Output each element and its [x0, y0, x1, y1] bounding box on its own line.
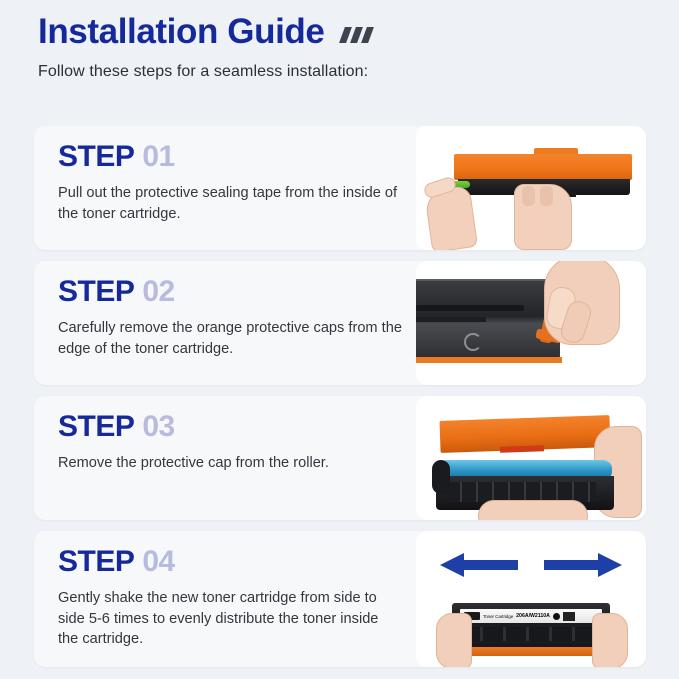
step-word: STEP — [58, 275, 134, 308]
shake-cartridge-side-to-side-illustration: Toner Cartridge 206A/W2110A — [416, 531, 646, 667]
step-number: 03 — [142, 410, 174, 443]
step-number: 04 — [142, 545, 174, 578]
cartridge-label: Toner Cartridge 206A/W2110A — [460, 609, 602, 623]
arrow-right-icon — [542, 551, 624, 579]
right-hand — [592, 613, 628, 667]
step-description: Remove the protective cap from the rolle… — [58, 453, 402, 474]
right-hand-finger-2 — [540, 186, 553, 206]
step-figure — [416, 396, 646, 520]
step-description: Carefully remove the orange protective c… — [58, 318, 402, 359]
right-hand-finger-1 — [522, 186, 535, 206]
cartridge-ribs — [460, 627, 602, 641]
steps-list: STEP01 Pull out the protective sealing t… — [34, 126, 646, 678]
hand-removing-orange-protective-cap-illustration — [416, 261, 646, 385]
step-number: 02 — [142, 275, 174, 308]
title-row: Installation Guide — [38, 14, 659, 51]
cartridge-label-dot — [553, 613, 560, 620]
step-description: Pull out the protective sealing tape fro… — [58, 183, 402, 224]
cartridge-end-cap — [432, 460, 450, 494]
triple-slash-icon — [342, 27, 371, 43]
left-hand — [436, 613, 472, 667]
step-word: STEP — [58, 545, 134, 578]
step-card: STEP01 Pull out the protective sealing t… — [34, 126, 646, 250]
cartridge-orange-base-strip — [416, 357, 562, 363]
cartridge-logo-mark — [464, 333, 482, 351]
step-text-block: STEP02 Carefully remove the orange prote… — [34, 261, 416, 385]
step-text-block: STEP03 Remove the protective cap from th… — [34, 396, 416, 520]
step-figure — [416, 261, 646, 385]
cartridge-ribs — [446, 482, 596, 502]
step-card: STEP03 Remove the protective cap from th… — [34, 396, 646, 520]
step-number: 01 — [142, 140, 174, 173]
orange-cover-notch — [500, 445, 544, 453]
step-figure: Toner Cartridge 206A/W2110A — [416, 531, 646, 667]
step-heading: STEP01 — [58, 142, 402, 172]
orange-toner-cartridge-with-green-sealing-tape-illustration — [416, 126, 646, 250]
step-card: STEP02 Carefully remove the orange prote… — [34, 261, 646, 385]
step-heading: STEP04 — [58, 547, 402, 577]
cartridge-groove-upper — [416, 305, 524, 311]
orange-cover-lifted-revealing-cyan-roller-illustration — [416, 396, 646, 520]
step-word: STEP — [58, 140, 134, 173]
cartridge-label-text: Toner Cartridge — [483, 614, 513, 619]
slash-bar-3 — [362, 27, 375, 43]
cartridge-orange-base-strip — [450, 647, 612, 656]
step-card: STEP04 Gently shake the new toner cartri… — [34, 531, 646, 667]
step-figure — [416, 126, 646, 250]
cartridge-groove-lower — [416, 317, 486, 322]
supporting-hand — [478, 500, 588, 520]
page-subtitle: Follow these steps for a seamless instal… — [38, 63, 659, 81]
step-text-block: STEP04 Gently shake the new toner cartri… — [34, 531, 416, 667]
cartridge-label-code: 206A/W2110A — [516, 613, 550, 619]
page-title: Installation Guide — [38, 14, 324, 51]
step-word: STEP — [58, 410, 134, 443]
installation-guide-page: Installation Guide Follow these steps fo… — [0, 0, 679, 679]
cartridge-label-box — [563, 612, 575, 621]
step-description: Gently shake the new toner cartridge fro… — [58, 588, 402, 650]
step-text-block: STEP01 Pull out the protective sealing t… — [34, 126, 416, 250]
step-heading: STEP03 — [58, 412, 402, 442]
arrow-left-icon — [438, 551, 520, 579]
step-heading: STEP02 — [58, 277, 402, 307]
cartridge-orange-shell — [454, 154, 632, 180]
page-header: Installation Guide Follow these steps fo… — [38, 14, 659, 81]
